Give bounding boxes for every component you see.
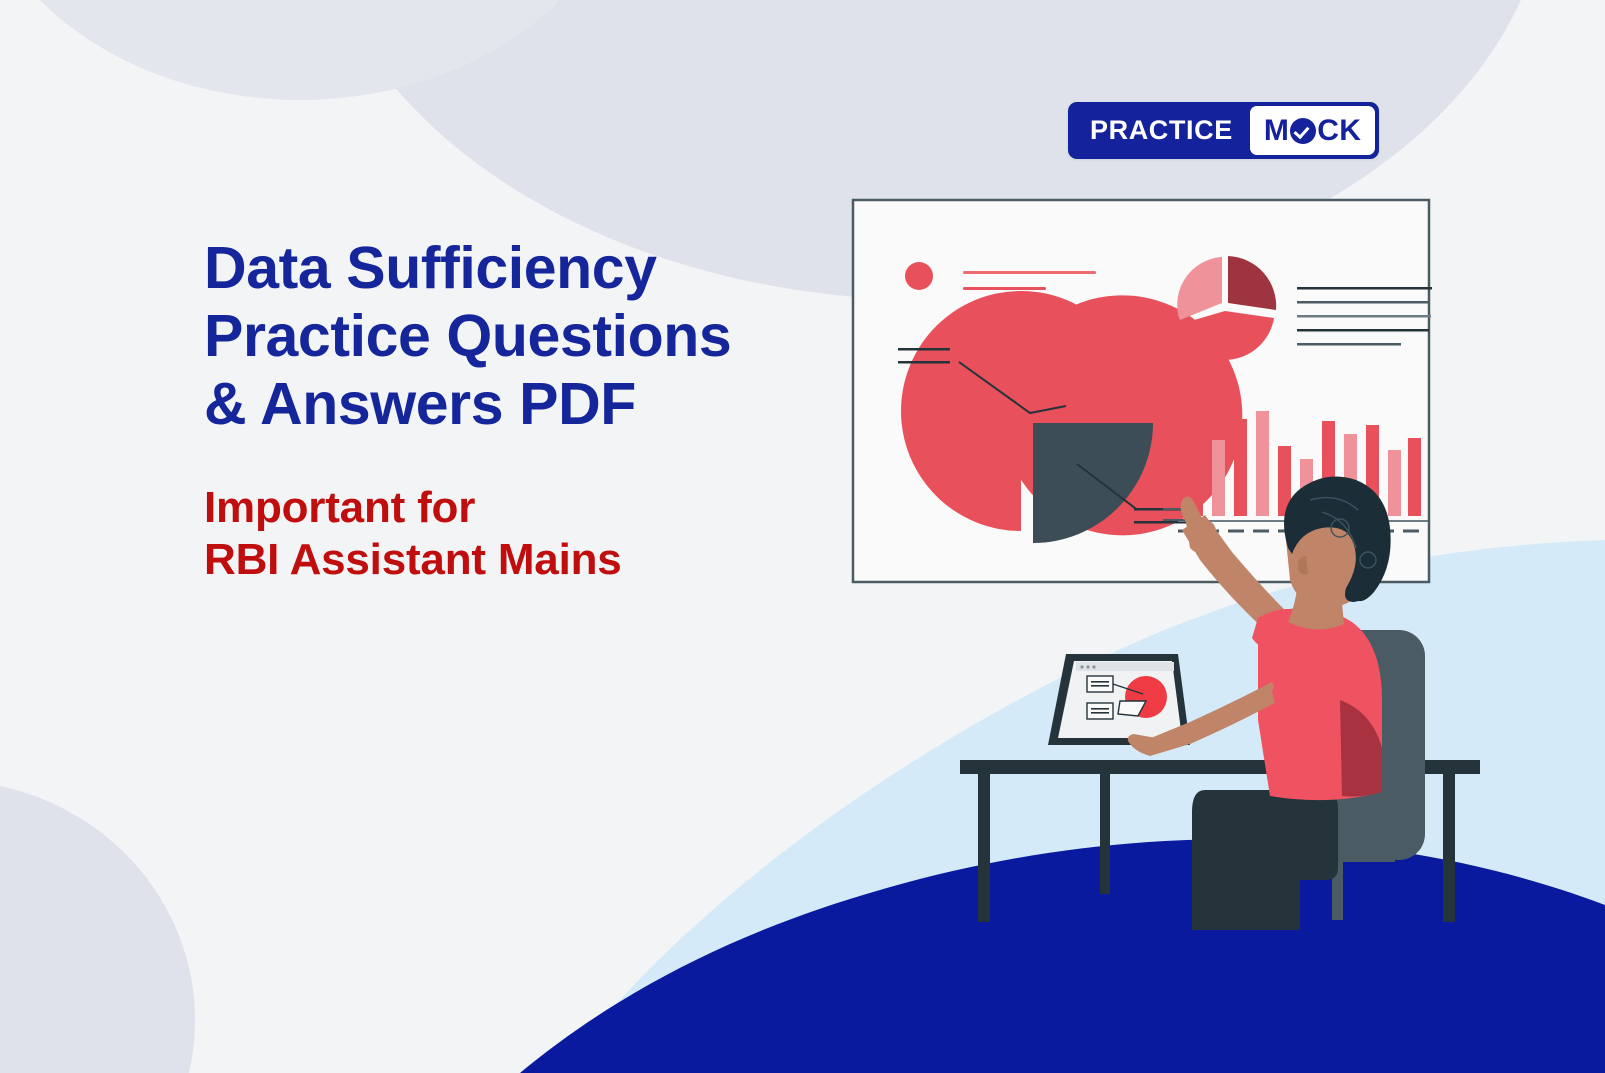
laptop-dot-3 <box>1092 665 1095 668</box>
laptop-callout-2-line-1 <box>1091 708 1109 710</box>
legend-red-dot-icon <box>905 262 933 290</box>
page-title: Data Sufficiency Practice Questions & An… <box>204 234 824 438</box>
laptop-callout-1-line-2 <box>1091 685 1109 687</box>
desk-leg-left <box>978 774 990 922</box>
pie-callout-label-upper-2 <box>898 361 950 364</box>
bar-10 <box>1388 450 1401 516</box>
desk-leg-mid <box>1100 774 1110 894</box>
bar-2 <box>1212 440 1225 516</box>
laptop-callout-box-2 <box>1087 703 1113 719</box>
logo-word-practice: PRACTICE <box>1068 102 1250 159</box>
brand-logo[interactable]: PRACTICE M CK <box>1068 102 1379 159</box>
check-icon <box>1290 118 1316 144</box>
text-line-3 <box>1297 315 1431 318</box>
headline-block: Data Sufficiency Practice Questions & An… <box>204 234 824 586</box>
logo-mock-letters-ck: CK <box>1317 116 1361 146</box>
text-line-2 <box>1297 301 1430 304</box>
text-line-4 <box>1297 329 1429 332</box>
legend-line-2 <box>963 287 1046 290</box>
laptop-dot-1 <box>1080 665 1083 668</box>
bar-4 <box>1256 411 1269 516</box>
logo-word-mock: M CK <box>1250 106 1376 155</box>
laptop-dot-2 <box>1086 665 1089 668</box>
axis-tick-label-2 <box>1163 519 1185 521</box>
banner-canvas: Data Sufficiency Practice Questions & An… <box>0 0 1605 1073</box>
laptop-callout-box-1 <box>1087 676 1113 692</box>
person-lower-leg <box>1250 840 1338 930</box>
bar-3 <box>1234 419 1247 516</box>
laptop-callout-2-line-2 <box>1091 712 1109 714</box>
text-line-5 <box>1297 343 1401 346</box>
bar-11 <box>1408 438 1421 516</box>
logo-mock-letter-m: M <box>1264 116 1289 146</box>
text-line-1 <box>1297 287 1432 290</box>
desk-leg-right <box>1443 774 1455 922</box>
legend-line-1 <box>963 271 1096 274</box>
pie-callout-label-upper-1 <box>898 348 950 351</box>
laptop-titlebar <box>1076 662 1174 671</box>
page-subtitle: Important for RBI Assistant Mains <box>204 482 824 586</box>
laptop-callout-1-line-1 <box>1091 681 1109 683</box>
